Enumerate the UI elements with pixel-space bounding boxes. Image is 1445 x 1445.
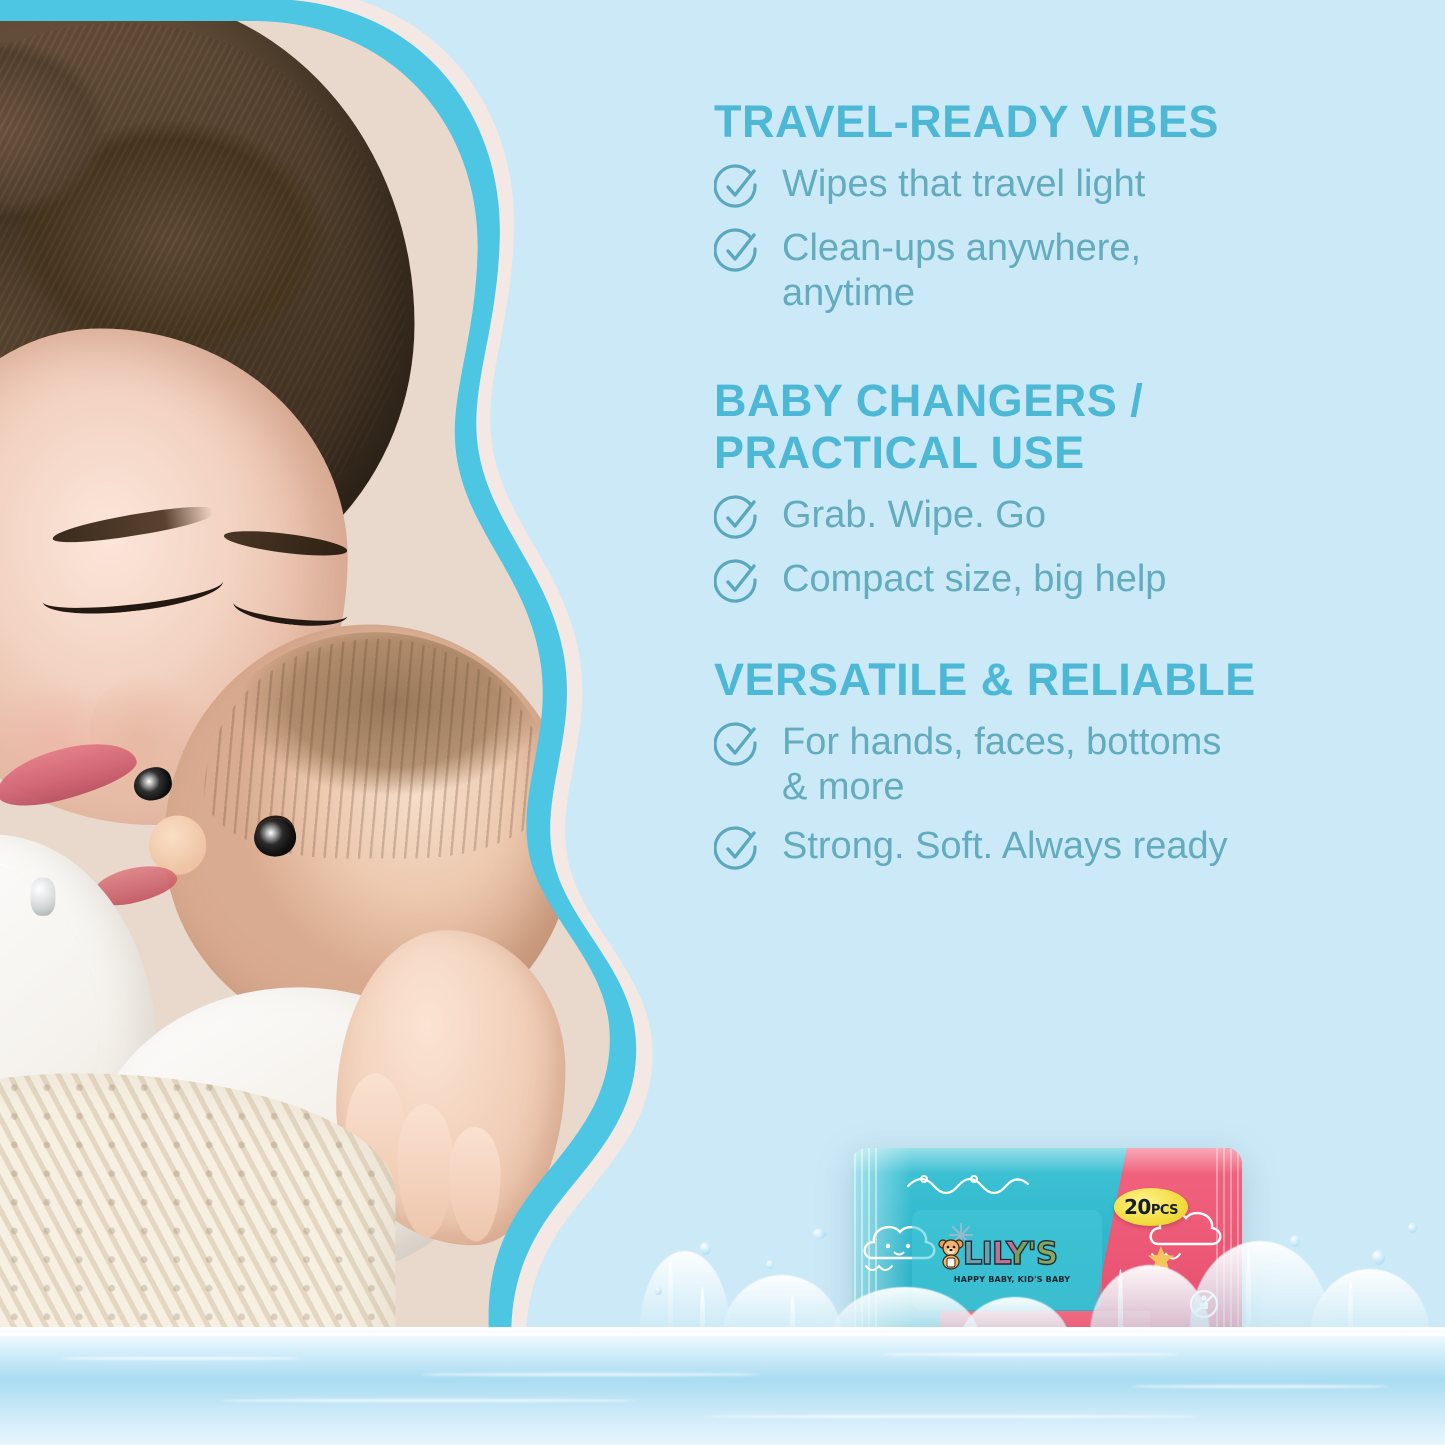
list-item: Grab. Wipe. Go (714, 492, 1414, 542)
bullet-list: For hands, faces, bottoms & more Strong.… (714, 719, 1414, 873)
bullet-label: For hands, faces, bottoms & more (782, 719, 1221, 809)
splash-spike (700, 1287, 705, 1353)
bullet-list: Wipes that travel light Clean-ups anywhe… (714, 161, 1414, 315)
count-value: 20PCS (1124, 1195, 1178, 1219)
splash-crown (722, 1275, 842, 1361)
spacer (714, 620, 1414, 654)
product-name: BABY WIPES (904, 1326, 1041, 1348)
water-droplet (700, 1242, 711, 1255)
list-item: For hands, faces, bottoms & more (714, 719, 1414, 809)
list-item: Compact size, big help (714, 556, 1414, 606)
water-droplet (1372, 1250, 1385, 1265)
product-package: LILY'S HAPPY BABY, KID'S BABY 20PCS BABY… (852, 1148, 1242, 1373)
section-title: VERSATILE & RELIABLE (714, 654, 1414, 705)
splash-spike (790, 1295, 795, 1353)
bullet-label: Strong. Soft. Always ready (782, 823, 1228, 868)
package-body: LILY'S HAPPY BABY, KID'S BABY 20PCS BABY… (852, 1148, 1242, 1373)
spacer (714, 329, 1414, 375)
finger-2 (397, 1104, 452, 1238)
photo-cutout (0, 0, 658, 1445)
list-item: Clean-ups anywhere, anytime (714, 225, 1414, 315)
check-circle-icon (714, 163, 762, 211)
check-circle-icon (714, 721, 762, 769)
brand-name: LILY'S (963, 1236, 1057, 1272)
list-item: Strong. Soft. Always ready (714, 823, 1414, 873)
ripple (700, 1415, 1200, 1418)
splash-spike (668, 1261, 673, 1353)
bullet-label: Grab. Wipe. Go (782, 492, 1046, 537)
knit-texture-holes (0, 1073, 395, 1426)
section-travel-ready: TRAVEL-READY VIBES Wipes that travel lig… (714, 96, 1414, 315)
section-baby-changers: BABY CHANGERS / PRACTICAL USE Grab. Wipe… (714, 375, 1414, 606)
package-sub-label: Size (1082, 1330, 1109, 1345)
baby-eye-near (254, 818, 296, 856)
water-droplet (1408, 1223, 1417, 1233)
section-versatile-reliable: VERSATILE & RELIABLE For hands, faces, b… (714, 654, 1414, 873)
finger-3 (449, 1127, 501, 1242)
check-circle-icon (714, 558, 762, 606)
water-droplet (766, 1260, 774, 1269)
count-badge: 20PCS (1114, 1188, 1188, 1226)
product-infographic: TRAVEL-READY VIBES Wipes that travel lig… (0, 0, 1445, 1445)
check-circle-icon (714, 825, 762, 873)
splash-spike (1246, 1249, 1251, 1353)
do-not-flush-icon (1188, 1288, 1220, 1320)
section-title: TRAVEL-READY VIBES (714, 96, 1414, 147)
brand-tagline: HAPPY BABY, KID'S BABY (932, 1275, 1092, 1284)
bullet-label: Compact size, big help (782, 556, 1166, 601)
feature-list: TRAVEL-READY VIBES Wipes that travel lig… (714, 96, 1414, 887)
check-circle-icon (714, 227, 762, 275)
package-left-ridges (854, 1148, 880, 1373)
splash-spike (1348, 1281, 1353, 1353)
water-droplet (1290, 1235, 1300, 1247)
bullet-list: Grab. Wipe. Go Compact size, big help (714, 492, 1414, 606)
check-circle-icon (714, 494, 762, 542)
earring (31, 878, 56, 916)
section-title: BABY CHANGERS / PRACTICAL USE (714, 375, 1414, 478)
ripple (1130, 1385, 1390, 1388)
package-top-fold (852, 1148, 1242, 1174)
bullet-label: Wipes that travel light (782, 161, 1145, 206)
splash-crown (1310, 1269, 1430, 1361)
package-right-ridges (1216, 1148, 1240, 1373)
bullet-label: Clean-ups anywhere, anytime (782, 225, 1141, 315)
list-item: Wipes that travel light (714, 161, 1414, 211)
brand-logo: LILY'S (944, 1234, 1076, 1274)
water-droplet (812, 1229, 826, 1239)
star-icon (1146, 1244, 1176, 1274)
